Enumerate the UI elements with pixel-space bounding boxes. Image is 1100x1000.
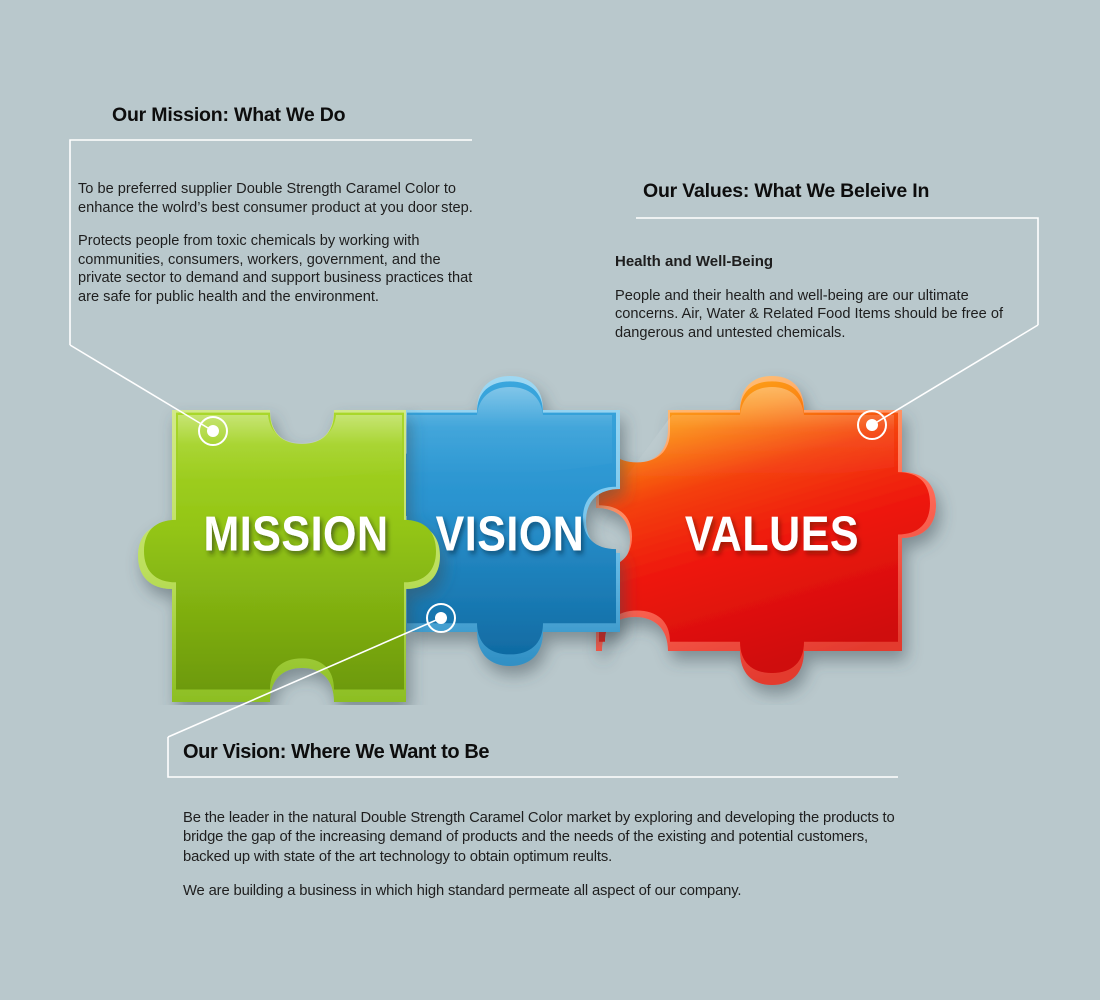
mission-piece-label: MISSION xyxy=(203,506,388,561)
vision-paragraph-2: We are building a business in which high… xyxy=(183,882,911,901)
mission-title: Our Mission: What We Do xyxy=(112,104,498,127)
values-piece-label: VALUES xyxy=(685,506,859,561)
vision-piece-gloss xyxy=(407,387,612,476)
values-hotspot-dot[interactable] xyxy=(857,410,887,440)
vision-title: Our Vision: Where We Want to Be xyxy=(183,741,923,764)
values-body: Health and Well-Being People and their h… xyxy=(615,253,1027,342)
vision-piece-label: VISION xyxy=(436,506,585,561)
values-piece-gloss xyxy=(626,387,894,481)
mission-paragraph-1: To be preferred supplier Double Strength… xyxy=(78,180,482,217)
vision-paragraph-1: Be the leader in the natural Double Stre… xyxy=(183,809,911,867)
vision-hotspot-dot[interactable] xyxy=(426,603,456,633)
values-subtitle: Health and Well-Being xyxy=(615,253,1027,272)
values-panel: Our Values: What We Beleive In Health an… xyxy=(615,180,1045,342)
vision-body: Be the leader in the natural Double Stre… xyxy=(183,809,911,902)
puzzle-graphic: MISSION VISION VALUES xyxy=(100,355,990,705)
values-title: Our Values: What We Beleive In xyxy=(643,180,1045,203)
mission-body: To be preferred supplier Double Strength… xyxy=(78,180,482,307)
values-paragraph-1: People and their health and well-being a… xyxy=(615,287,1027,343)
infographic-stage: MISSION VISION VALUES Our Mission: What … xyxy=(0,0,1100,1000)
mission-panel: Our Mission: What We Do To be preferred … xyxy=(78,104,498,307)
mission-hotspot-dot[interactable] xyxy=(198,416,228,446)
mission-paragraph-2: Protects people from toxic chemicals by … xyxy=(78,232,482,306)
vision-panel: Our Vision: Where We Want to Be Be the l… xyxy=(183,741,923,902)
